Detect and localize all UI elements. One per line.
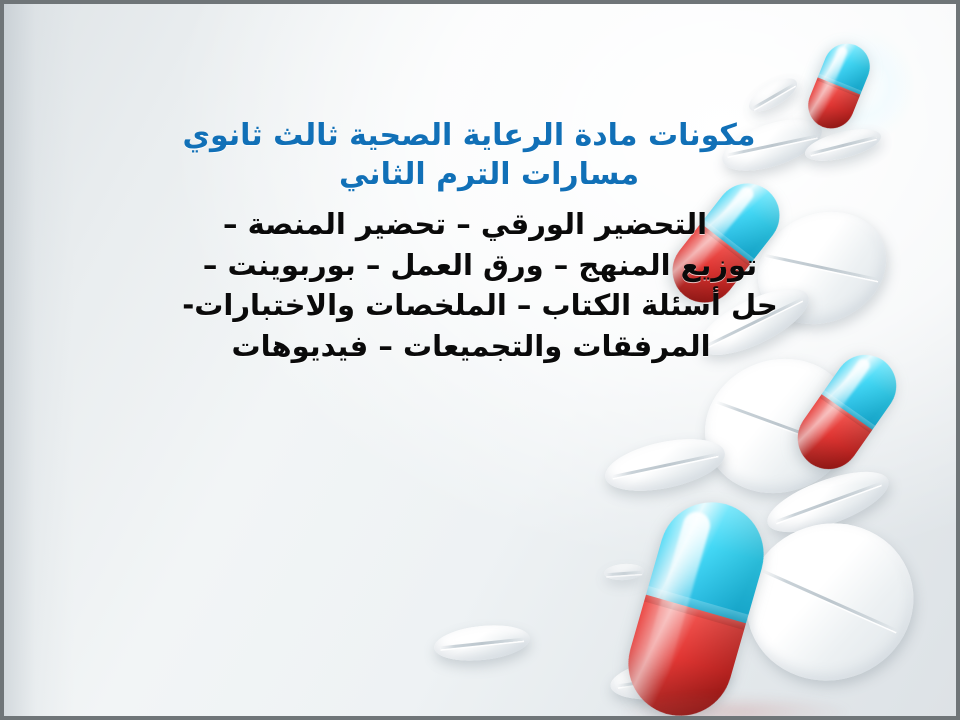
slide-title-line-2: مسارات الترم الثاني bbox=[4, 155, 956, 194]
slide-title-line-1: مكونات مادة الرعاية الصحية ثالث ثانوي bbox=[4, 116, 956, 155]
slide-title: مكونات مادة الرعاية الصحية ثالث ثانوي مس… bbox=[4, 116, 956, 194]
slide-body-line-4: المرفقات والتجميعات – فيديوهات bbox=[4, 326, 956, 367]
slide-body-line-1: التحضير الورقي – تحضير المنصة – bbox=[4, 204, 956, 245]
slide-text-layer: مكونات مادة الرعاية الصحية ثالث ثانوي مس… bbox=[4, 4, 956, 716]
presentation-slide: مكونات مادة الرعاية الصحية ثالث ثانوي مس… bbox=[0, 0, 960, 720]
slide-body-text: التحضير الورقي – تحضير المنصة – توزيع ال… bbox=[4, 204, 956, 366]
slide-body-line-3: حل أسئلة الكتاب – الملخصات والاختبارات- bbox=[4, 285, 956, 326]
slide-body-line-2: توزيع المنهج – ورق العمل – بوربوينت – bbox=[4, 245, 956, 286]
